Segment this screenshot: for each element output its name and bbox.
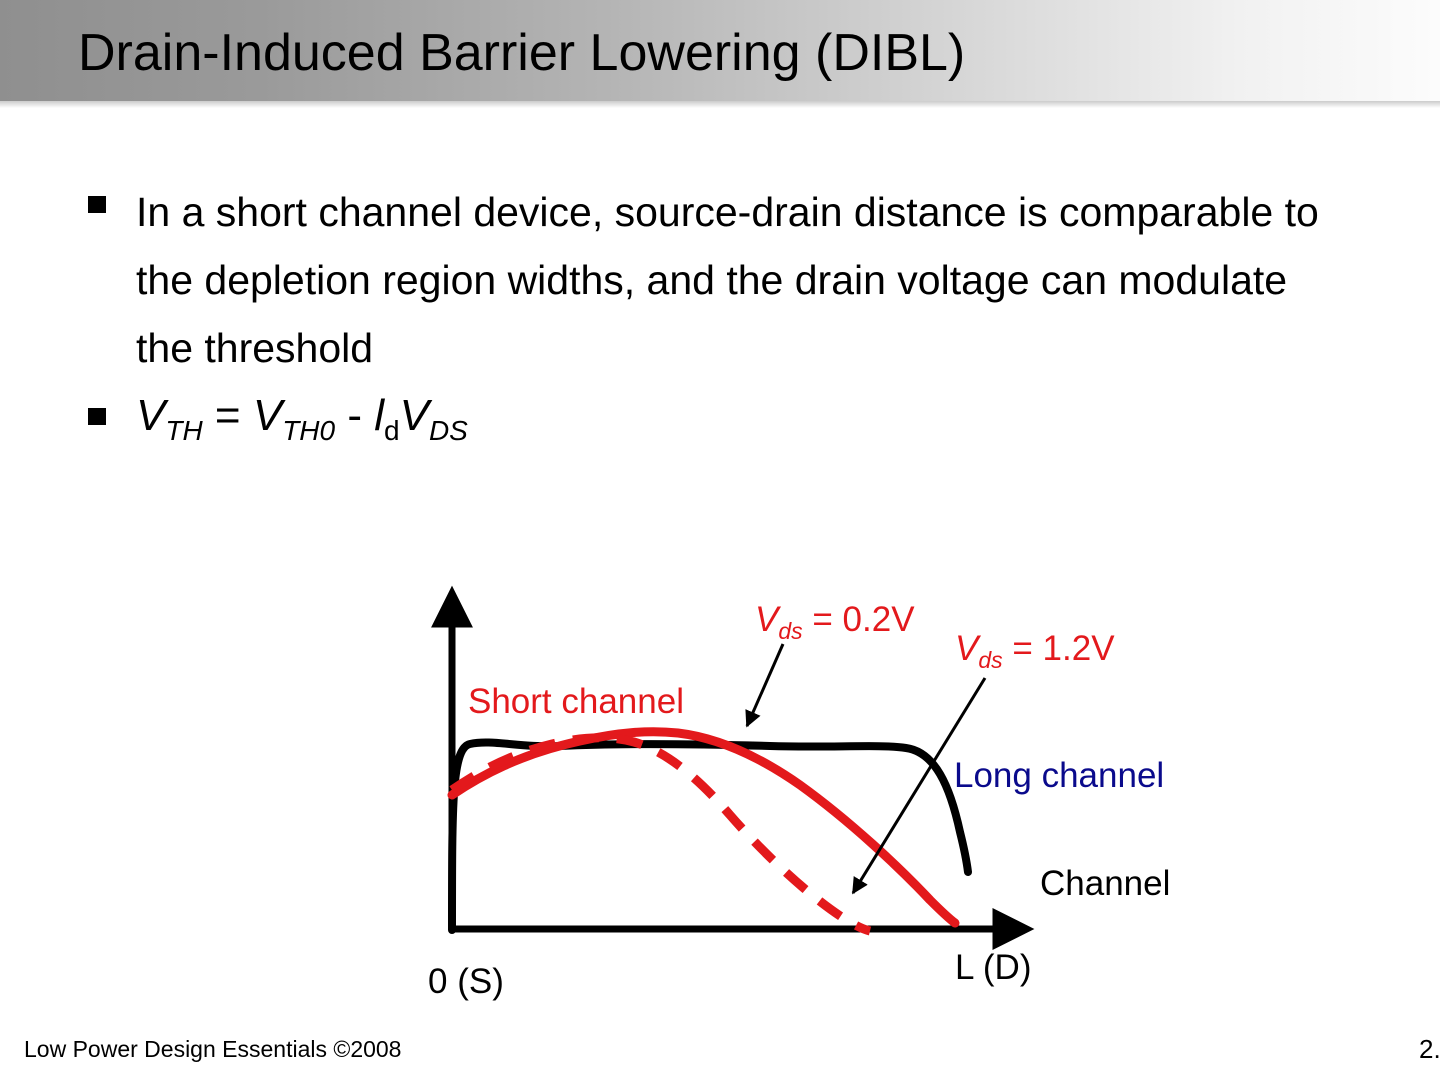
annotation-arrow-vds-high: [853, 678, 985, 893]
square-bullet-icon: [88, 408, 106, 425]
vds-high-sub: ds: [978, 647, 1002, 673]
formula-v2-sub: TH0: [282, 415, 335, 446]
page-title: Drain-Induced Barrier Lowering (DIBL): [78, 24, 965, 82]
square-bullet-icon: [88, 196, 106, 213]
formula-l: l: [374, 391, 384, 440]
formula-equals: =: [203, 391, 253, 440]
curve-short-channel-vds-low: [452, 732, 955, 923]
vds-low-sub: ds: [778, 618, 802, 644]
formula-l-sub: d: [384, 415, 400, 446]
chart-svg: [0, 0, 1440, 1080]
footer-attribution: Low Power Design Essentials ©2008: [24, 1036, 401, 1063]
vds-high-v: V: [955, 629, 978, 668]
title-bar-shadow: [0, 101, 1440, 108]
formula-v1: V: [136, 391, 165, 440]
annotation-short-channel: Short channel: [468, 682, 684, 722]
list-item: In a short channel device, source-drain …: [88, 178, 1378, 382]
threshold-voltage-formula: VTH = VTH0 - ldVDS: [136, 386, 468, 461]
dibl-potential-diagram: Short channel Long channel Channel Vds =…: [0, 0, 1440, 1080]
curve-short-channel-vds-high: [452, 738, 870, 931]
formula-v3: V: [400, 391, 429, 440]
annotation-vds-high: Vds = 1.2V: [955, 629, 1115, 674]
annotation-vds-low: Vds = 0.2V: [755, 600, 915, 645]
formula-v2: V: [253, 391, 282, 440]
annotation-long-channel: Long channel: [954, 756, 1164, 796]
formula-minus: -: [335, 391, 374, 440]
axis-label-channel: Channel: [1040, 864, 1170, 904]
bullet-text-1: In a short channel device, source-drain …: [136, 178, 1336, 382]
axis-tick-origin: 0 (S): [428, 962, 504, 1002]
annotation-arrow-vds-low: [747, 644, 783, 726]
vds-low-rest: = 0.2V: [803, 600, 915, 639]
axis-tick-end: L (D): [955, 948, 1031, 988]
vds-high-rest: = 1.2V: [1003, 629, 1115, 668]
vds-low-v: V: [755, 600, 778, 639]
formula-v1-sub: TH: [165, 415, 202, 446]
curve-long-channel: [452, 742, 968, 930]
footer-page-number: 2.: [1419, 1034, 1440, 1065]
bullet-list: In a short channel device, source-drain …: [88, 178, 1378, 465]
formula-v3-sub: DS: [429, 415, 468, 446]
list-item: VTH = VTH0 - ldVDS: [88, 386, 1378, 461]
